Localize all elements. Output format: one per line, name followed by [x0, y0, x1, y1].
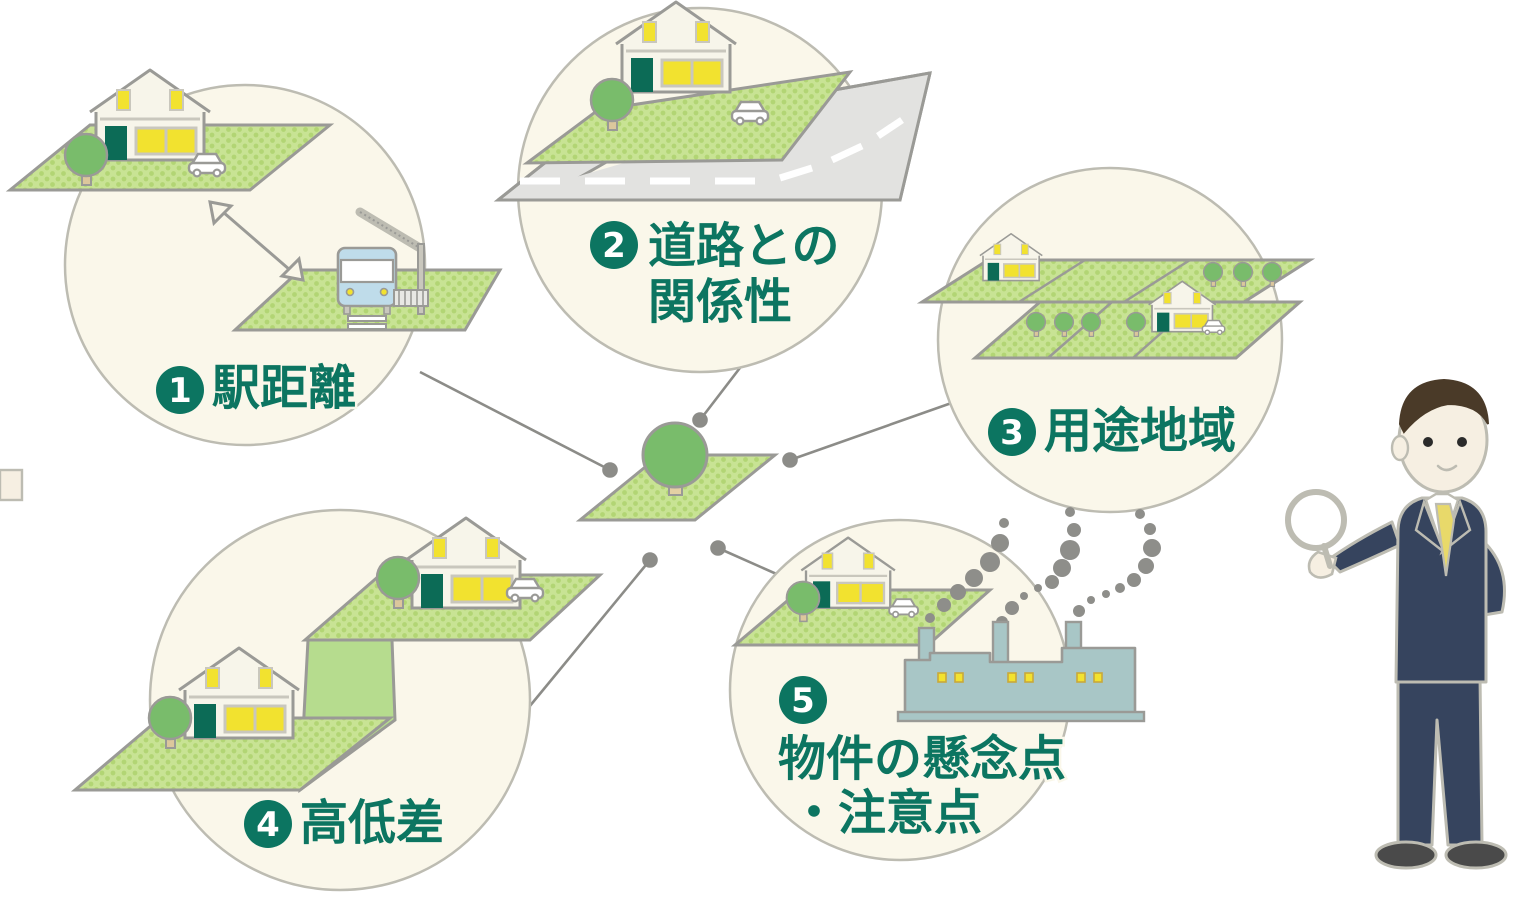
item-4-number: 4 — [256, 805, 280, 845]
item-3-group[interactable]: 3 用途地域 — [922, 168, 1310, 512]
item-1-group[interactable]: 1 駅距離 — [10, 70, 500, 445]
item-2-number: 2 — [602, 226, 626, 266]
shoe-left — [1376, 842, 1436, 868]
item-5-number: 5 — [791, 681, 815, 721]
item-2-label-line1: 道路との — [648, 218, 840, 274]
item-5-group[interactable]: 5 物件の懸念点 ・注意点 — [730, 507, 1161, 860]
item-1-house-icon — [90, 70, 210, 160]
item-4-label-text: 高低差 — [300, 795, 444, 851]
item-1-label-text: 駅距離 — [212, 360, 356, 416]
item-5-label-line2: ・注意点 — [790, 785, 982, 841]
item-1-label: 1 駅距離 — [156, 360, 356, 416]
center-tree-icon — [643, 423, 707, 487]
shoe-right — [1446, 842, 1506, 868]
connector-dot-5 — [712, 542, 725, 555]
item-4-label: 4 高低差 — [244, 795, 444, 851]
item-1-number: 1 — [168, 371, 192, 411]
item-5-label-line1: 物件の懸念点 — [778, 731, 1066, 787]
item-3-label-text: 用途地域 — [1044, 403, 1236, 459]
infographic-canvas: 1 駅距離 — [0, 0, 1520, 900]
connector-dot-4 — [644, 554, 657, 567]
item-3-plot-row-upper — [922, 260, 1310, 302]
item-4-group[interactable]: 4 高低差 — [75, 510, 600, 890]
connector-dot-3 — [784, 454, 797, 467]
connector-line-1 — [420, 372, 610, 470]
item-2-label-line2: 関係性 — [648, 274, 792, 330]
connector-dot-2 — [694, 414, 707, 427]
connector-dot-1 — [604, 464, 617, 477]
item-2-group[interactable]: 2 道路との 関係性 — [498, 2, 930, 372]
connector-line-3 — [790, 400, 960, 460]
item-3-number: 3 — [1000, 413, 1024, 453]
